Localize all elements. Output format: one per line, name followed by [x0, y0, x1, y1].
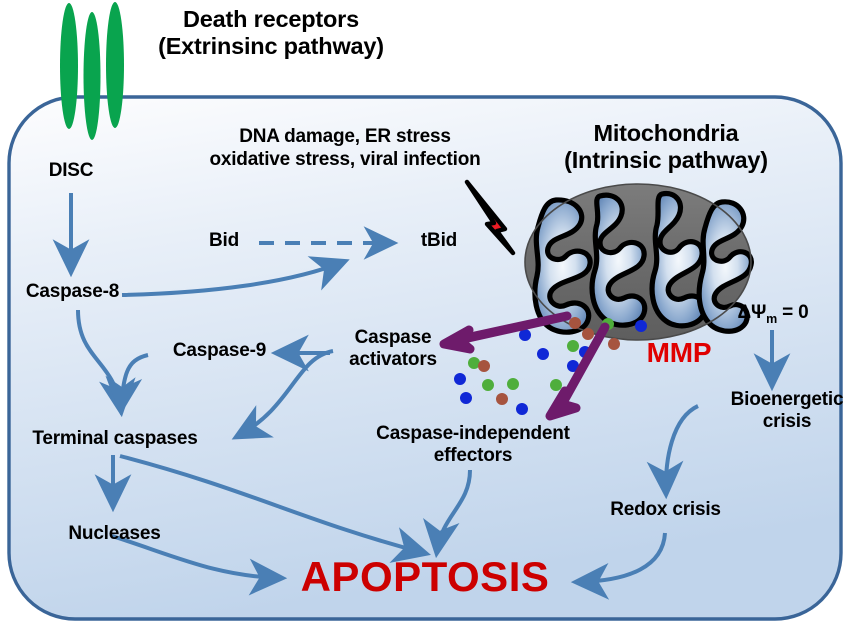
label-apoptosis: APOPTOSIS	[280, 553, 570, 601]
label-membrane-potential: ΔΨm = 0	[713, 302, 833, 326]
node-caspase-activators: Caspase activators	[336, 327, 450, 370]
death-receptor-icons	[60, 2, 124, 140]
node-tbid: tBid	[404, 230, 474, 252]
node-nucleases: Nucleases	[52, 523, 177, 545]
mitochondria-title: Mitochondria (Intrinsic pathway)	[516, 120, 816, 175]
stimuli-label: DNA damage, ER stress oxidative stress, …	[180, 126, 510, 172]
node-bioenergetic-crisis: Bioenergetic crisis	[727, 389, 847, 432]
psi-symbol: ΔΨ	[738, 302, 767, 323]
node-caspase9: Caspase-9	[157, 340, 282, 362]
death-receptors-title: Death receptors (Extrinsinc pathway)	[121, 6, 421, 61]
label-mmp: MMP	[634, 337, 724, 369]
node-terminal-caspases: Terminal caspases	[15, 428, 215, 450]
node-bid: Bid	[194, 230, 254, 252]
node-caspase8: Caspase-8	[10, 281, 135, 303]
node-disc: DISC	[26, 160, 116, 182]
psi-value: = 0	[777, 302, 808, 323]
psi-subscript: m	[766, 312, 777, 326]
node-redox-crisis: Redox crisis	[593, 499, 738, 521]
node-caspase-independent-effectors: Caspase-independent effectors	[353, 423, 593, 466]
pathway-diagram-canvas: tBid (dashed) --> Death	[0, 0, 850, 629]
